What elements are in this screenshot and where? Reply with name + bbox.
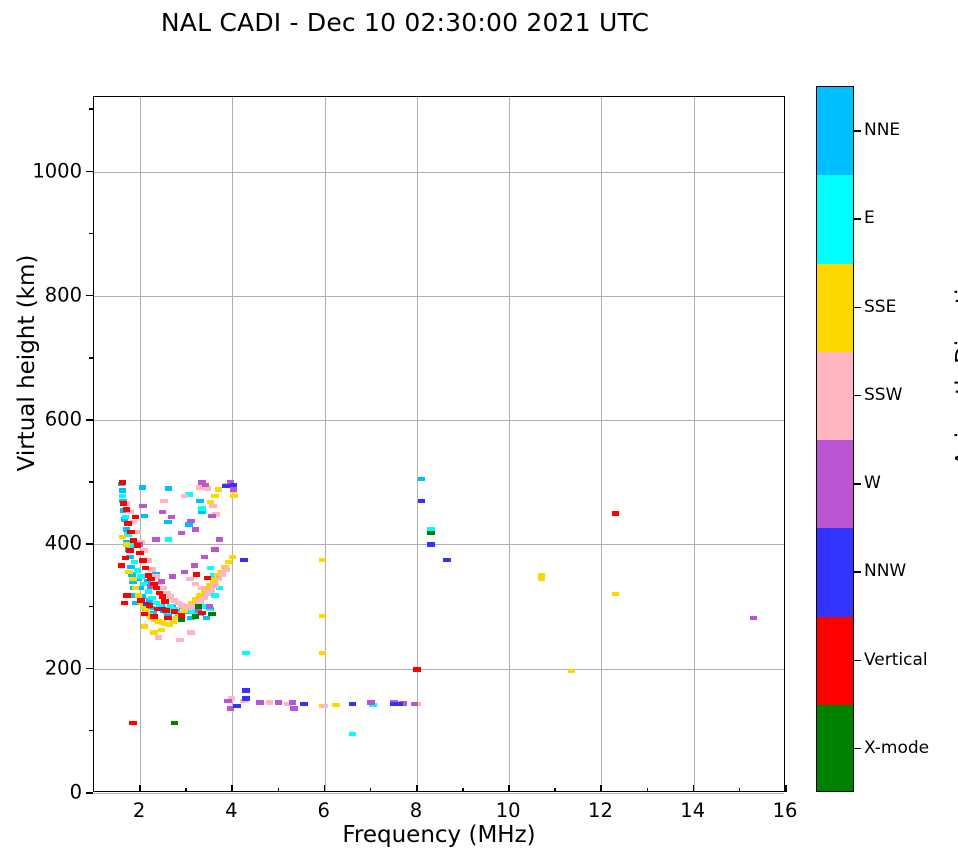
y-tick-label: 400 [45, 532, 82, 555]
x-tick [139, 785, 141, 792]
y-tick [86, 419, 93, 421]
y-axis-title: Virtual height (km) [14, 198, 40, 528]
x-tick [508, 785, 510, 792]
y-tick-minor [89, 233, 94, 235]
y-tick-minor [89, 606, 94, 608]
colorbar-tick-marks [854, 86, 864, 792]
x-tick-label: 16 [773, 799, 798, 822]
x-tick-label: 14 [680, 799, 705, 822]
x-tick [600, 785, 602, 792]
page-title: NAL CADI - Dec 10 02:30:00 2021 UTC [0, 8, 810, 37]
y-tick-label: 800 [45, 283, 82, 306]
colorbar-tick [854, 307, 861, 309]
x-tick [785, 785, 787, 792]
colorbar-label-e: E [864, 208, 875, 228]
colorbar-tick [854, 748, 861, 750]
x-tick-minor [554, 788, 556, 793]
x-tick-label: 10 [496, 799, 521, 822]
colorbar-label-x-mode: X-mode [864, 738, 929, 758]
y-tick-label: 0 [70, 781, 82, 804]
x-tick-label: 12 [588, 799, 613, 822]
gridline-horizontal [94, 793, 784, 794]
x-tick [324, 785, 326, 792]
y-tick [86, 295, 93, 297]
x-tick [231, 785, 233, 792]
x-tick-minor [739, 788, 741, 793]
colorbar-labels: NNEESSESSWWNNWVerticalX-mode [864, 86, 954, 792]
colorbar-segment-e [817, 175, 853, 264]
colorbar-label-sse: SSE [864, 297, 896, 317]
y-tick-label: 1000 [32, 159, 82, 182]
y-tick-minor [89, 108, 94, 110]
x-tick-label: 8 [410, 799, 422, 822]
colorbar-tick [854, 218, 861, 220]
y-tick [86, 792, 93, 794]
x-tick-label: 2 [133, 799, 145, 822]
x-tick-minor [278, 788, 280, 793]
y-tick [86, 171, 93, 173]
ionogram-figure: NAL CADI - Dec 10 02:30:00 2021 UTC 0200… [0, 0, 958, 857]
colorbar-tick [854, 571, 861, 573]
colorbar-segment-nnw [817, 528, 853, 617]
x-tick-minor [370, 788, 372, 793]
colorbar-segment-sse [817, 264, 853, 353]
colorbar-segment-ssw [817, 352, 853, 441]
colorbar-segment-w [817, 440, 853, 529]
colorbar-segment-x-mode [817, 705, 853, 792]
colorbar-label-w: W [864, 473, 881, 493]
colorbar-tick [854, 483, 861, 485]
colorbar-label-vertical: Vertical [864, 650, 928, 670]
colorbar-tick [854, 660, 861, 662]
y-tick-minor [89, 357, 94, 359]
colorbar-tick [854, 395, 861, 397]
y-tick [86, 543, 93, 545]
colorbar [816, 86, 854, 792]
x-tick [693, 785, 695, 792]
x-tick [416, 785, 418, 792]
y-tick-minor [89, 481, 94, 483]
colorbar-label-nne: NNE [864, 120, 900, 140]
colorbar-tick [854, 130, 861, 132]
colorbar-title: Azimuth Direction [952, 198, 958, 528]
y-tick-label: 600 [45, 408, 82, 431]
colorbar-label-ssw: SSW [864, 385, 902, 405]
x-tick-label: 6 [317, 799, 329, 822]
x-tick-minor [462, 788, 464, 793]
colorbar-segment-vertical [817, 617, 853, 706]
y-tick-marks [93, 96, 785, 792]
y-tick-label: 200 [45, 656, 82, 679]
y-tick-minor [89, 730, 94, 732]
y-tick-labels: 02004006008001000 [0, 96, 82, 792]
x-tick-label: 4 [225, 799, 237, 822]
colorbar-label-nnw: NNW [864, 561, 906, 581]
x-tick-minor [647, 788, 649, 793]
colorbar-segment-nne [817, 87, 853, 176]
x-axis-title: Frequency (MHz) [93, 822, 785, 848]
x-tick-minor [185, 788, 187, 793]
y-tick [86, 668, 93, 670]
